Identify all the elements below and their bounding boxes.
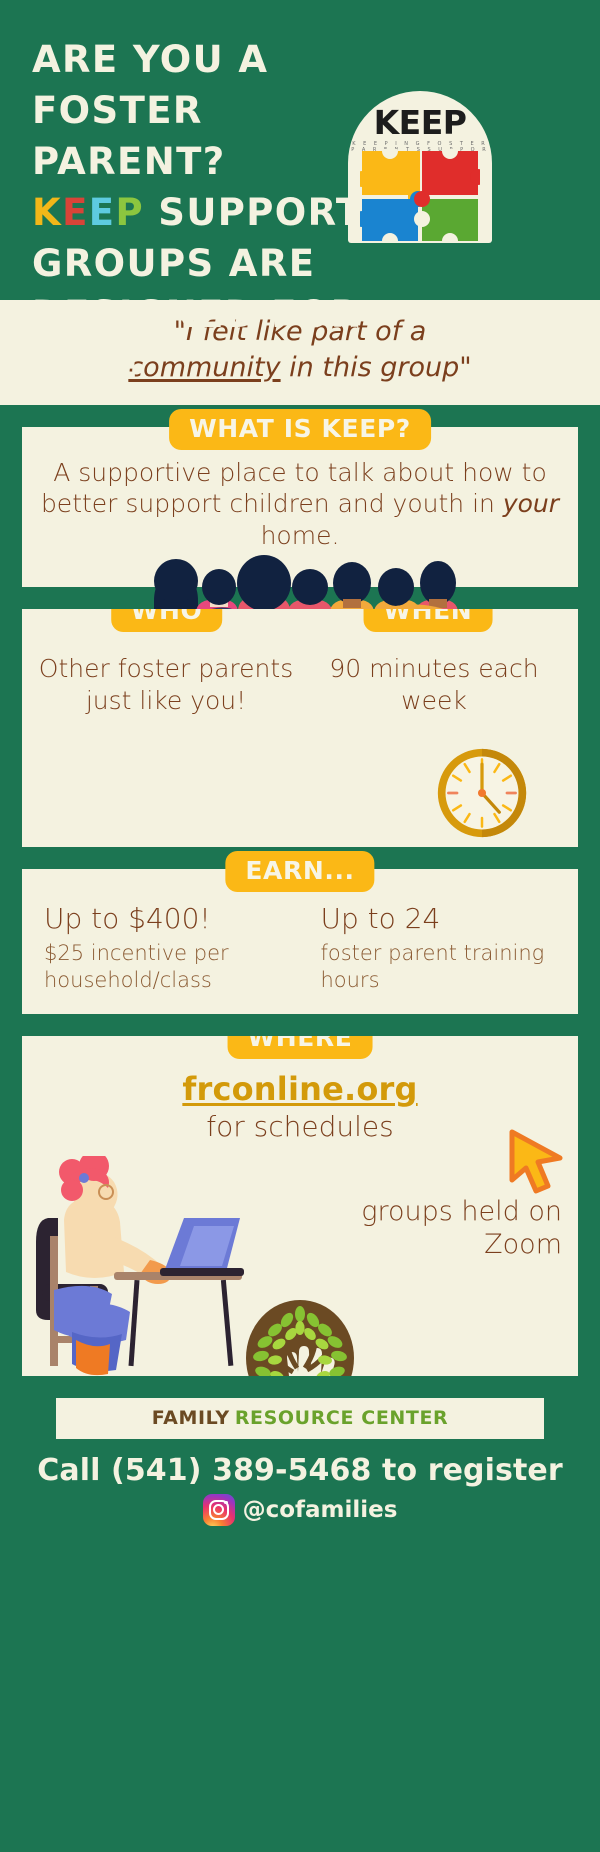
card-earn: EARN... Up to $400! $25 incentive per ho…: [22, 869, 578, 1014]
headline-line-5-pre: designed for: [32, 293, 361, 336]
instagram-row[interactable]: @cofamilies: [10, 1494, 590, 1526]
headline-line-5: designed for you!: [32, 289, 452, 391]
when-text: 90 minutes each week: [300, 653, 564, 716]
pill-earn: EARN...: [225, 851, 374, 892]
infographic-poster: Are you a foster parent? KEEP support gr…: [0, 0, 600, 1852]
card-who-when: WHO WHEN Other foster parents just like …: [22, 609, 578, 847]
earn-columns: Up to $400! $25 incentive per household/…: [38, 903, 562, 994]
keep-letter-e1: E: [62, 191, 89, 234]
headline-line-4: groups are: [32, 238, 452, 289]
frc-word-family: FAMILY: [152, 1407, 230, 1429]
puzzle-icon: [360, 149, 480, 243]
pill-who: WHO: [111, 609, 223, 632]
keep-letter-k: K: [32, 191, 62, 234]
headline-line-5-post: !: [123, 344, 141, 387]
earn-right-detail: foster parent training hours: [320, 940, 562, 995]
keep-logo-badge: KEEP K E E P I N G F O S T E R P A R E N…: [348, 91, 492, 243]
header: Are you a foster parent? KEEP support gr…: [0, 0, 600, 300]
keep-letter-p: P: [115, 191, 144, 234]
earn-left-headline: Up to $400!: [44, 903, 310, 935]
pill-when: WHEN: [363, 609, 492, 632]
website-caption: for schedules: [34, 1110, 566, 1143]
mouse-cursor-icon: [504, 1128, 566, 1194]
sections-wrapper: WHAT IS KEEP? A supportive place to talk…: [0, 427, 600, 1376]
earn-left-column: Up to $400! $25 incentive per household/…: [38, 903, 310, 994]
frc-logo-bar: FAMILY RESOURCE CENTER: [56, 1398, 544, 1439]
call-to-register: Call (541) 389-5468 to register: [10, 1453, 590, 1488]
website-link[interactable]: frconline.org: [34, 1070, 566, 1108]
pill-what-is-keep: WHAT IS KEEP?: [169, 409, 431, 450]
earn-right-column: Up to 24 foster parent training hours: [310, 903, 562, 994]
headline-you-underlined: you: [32, 344, 123, 387]
keep-logo-title: KEEP: [348, 103, 492, 142]
pill-where: WHERE: [228, 1036, 373, 1059]
body-pre: A supportive place to talk about how to …: [41, 458, 547, 519]
what-is-keep-body: A supportive place to talk about how to …: [38, 457, 562, 552]
who-when-columns: Other foster parents just like you! 90 m…: [36, 653, 564, 716]
instagram-handle: @cofamilies: [243, 1497, 398, 1523]
earn-left-detail: $25 incentive per household/class: [44, 940, 310, 995]
tree-hand-logo-icon: [235, 1294, 365, 1376]
keep-word-colored: KEEP: [32, 191, 144, 234]
footer: Call (541) 389-5468 to register @cofamil…: [0, 1439, 600, 1536]
card-what-is-keep: WHAT IS KEEP? A supportive place to talk…: [22, 427, 578, 588]
who-text: Other foster parents just like you!: [36, 653, 300, 716]
keep-letter-e2: E: [89, 191, 116, 234]
card-where: WHERE frconline.org for schedules groups…: [22, 1036, 578, 1376]
body-post: home.: [261, 521, 340, 550]
instagram-icon[interactable]: [203, 1494, 235, 1526]
body-emphasis: your: [503, 489, 559, 518]
earn-right-headline: Up to 24: [320, 903, 562, 935]
zoom-note: groups held on Zoom: [332, 1196, 562, 1261]
clock-icon: [434, 745, 530, 841]
frc-word-resource-center: RESOURCE CENTER: [235, 1407, 448, 1429]
headline-line-3-rest: support: [158, 191, 362, 234]
